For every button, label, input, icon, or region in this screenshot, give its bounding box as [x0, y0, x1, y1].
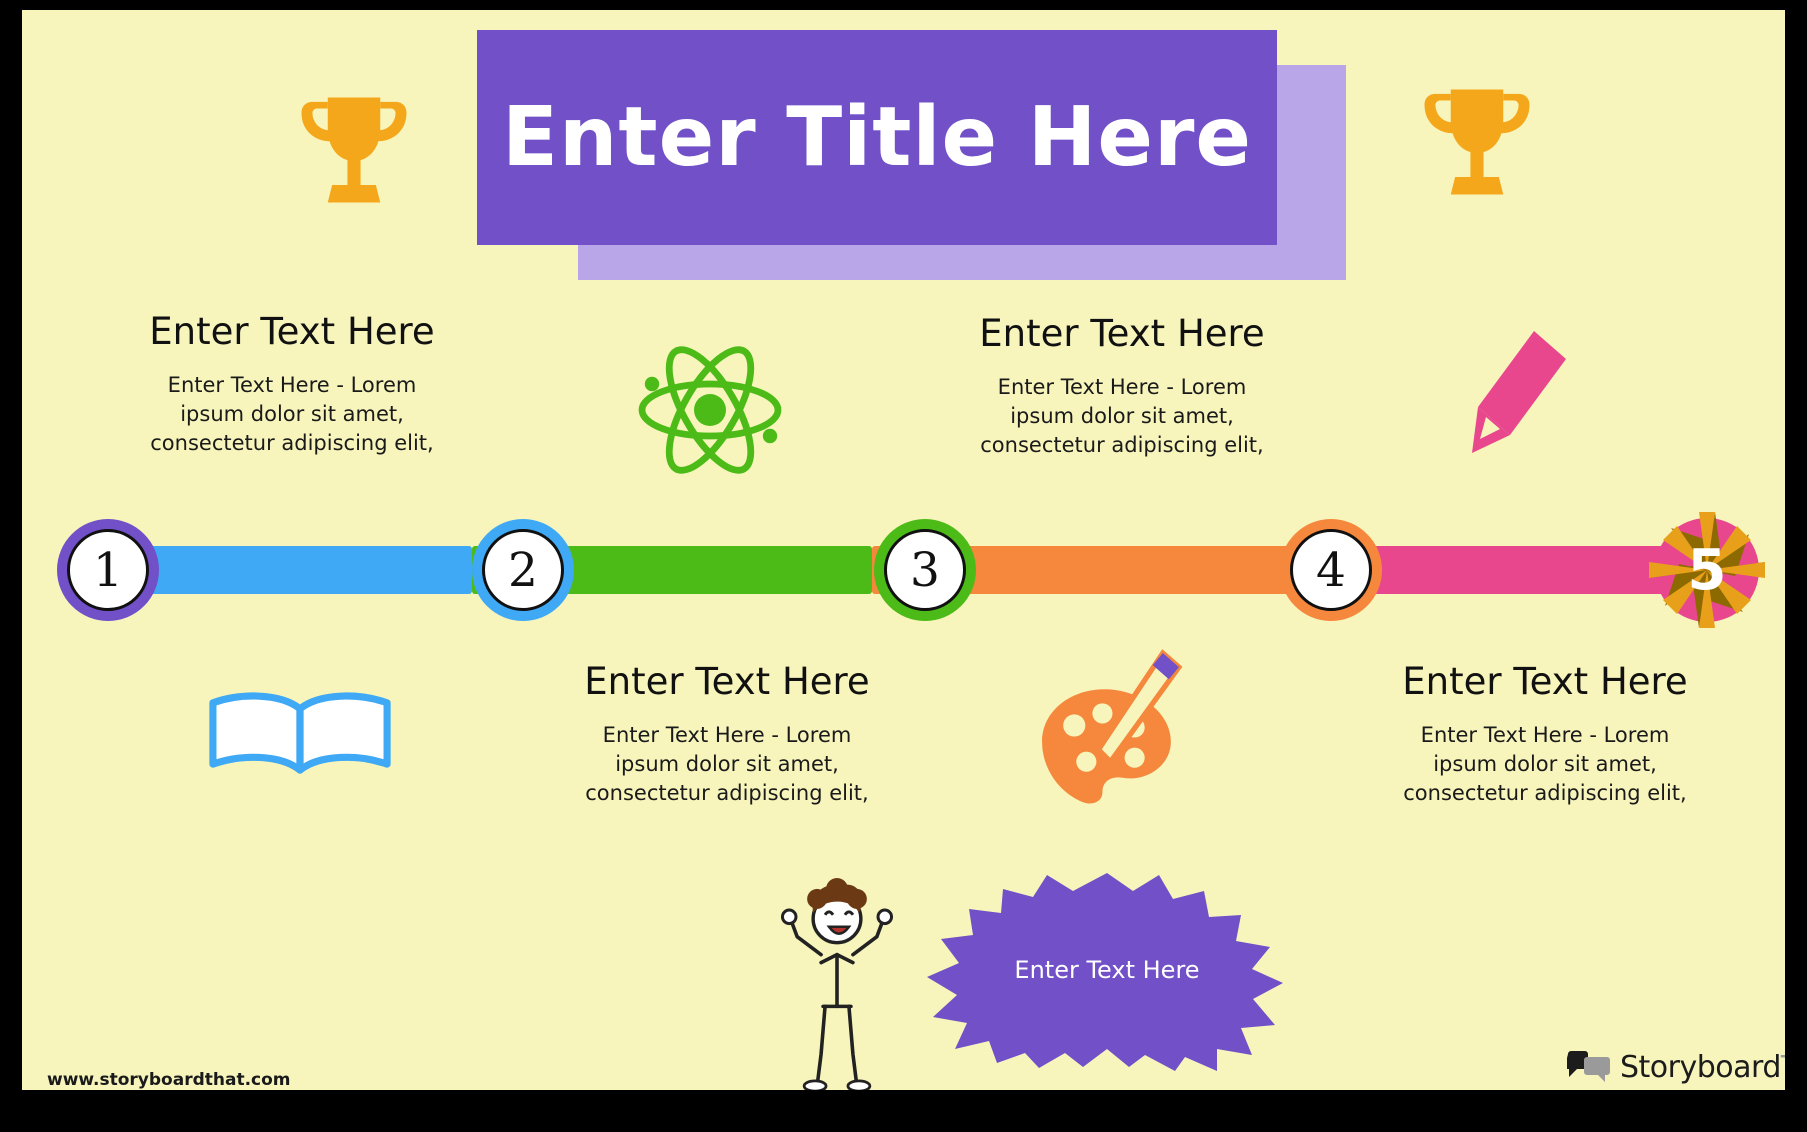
timeline-node-3-number: 3 — [884, 529, 966, 611]
open-book-icon — [200, 685, 400, 784]
footer-url[interactable]: www.storyboardthat.com — [47, 1070, 291, 1090]
timeline-node-4-number: 4 — [1290, 529, 1372, 611]
text-block-3-body: Enter Text Here - Lorem ipsum dolor sit … — [977, 373, 1267, 460]
text-block-3-heading: Enter Text Here — [977, 312, 1267, 355]
callout-badge[interactable]: Enter Text Here — [927, 865, 1287, 1075]
logo-primary: Storyboard — [1620, 1050, 1781, 1085]
timeline-node-3[interactable]: 3 — [874, 519, 976, 621]
trophy-icon-right — [1407, 72, 1547, 216]
text-block-3[interactable]: Enter Text Here Enter Text Here - Lorem … — [977, 312, 1267, 460]
paint-palette-icon — [1030, 645, 1195, 814]
timeline-node-1-number: 1 — [67, 529, 149, 611]
storyboardthat-logo[interactable]: StoryboardThat — [1567, 1050, 1785, 1085]
timeline-node-5-number: 5 — [1637, 500, 1777, 640]
cheering-character — [777, 875, 897, 1090]
text-block-4-heading: Enter Text Here — [1400, 660, 1690, 703]
text-block-2[interactable]: Enter Text Here Enter Text Here - Lorem … — [582, 660, 872, 808]
title-banner[interactable]: Enter Title Here — [477, 30, 1277, 245]
trophy-icon-left — [284, 80, 424, 224]
text-block-1[interactable]: Enter Text Here Enter Text Here - Lorem … — [147, 310, 437, 458]
timeline-node-5[interactable]: 5 — [1637, 500, 1777, 640]
timeline: 1 2 3 4 — [22, 510, 1785, 630]
text-block-2-body: Enter Text Here - Lorem ipsum dolor sit … — [582, 721, 872, 808]
timeline-node-2-number: 2 — [482, 529, 564, 611]
text-block-1-body: Enter Text Here - Lorem ipsum dolor sit … — [147, 371, 437, 458]
text-block-4[interactable]: Enter Text Here Enter Text Here - Lorem … — [1400, 660, 1690, 808]
timeline-node-4[interactable]: 4 — [1280, 519, 1382, 621]
timeline-segment-1-2 — [122, 546, 472, 594]
page-title: Enter Title Here — [502, 90, 1252, 185]
text-block-2-heading: Enter Text Here — [582, 660, 872, 703]
timeline-node-1[interactable]: 1 — [57, 519, 159, 621]
callout-text: Enter Text Here — [927, 865, 1287, 1075]
timeline-node-2[interactable]: 2 — [472, 519, 574, 621]
speech-bubbles-icon — [1567, 1051, 1611, 1085]
logo-wordmark: StoryboardThat — [1620, 1050, 1785, 1085]
pencil-icon — [1462, 325, 1572, 489]
text-block-1-heading: Enter Text Here — [147, 310, 437, 353]
logo-secondary: That — [1781, 1050, 1785, 1085]
text-block-4-body: Enter Text Here - Lorem ipsum dolor sit … — [1400, 721, 1690, 808]
poster-canvas: Enter Title Here — [22, 10, 1785, 1090]
atom-icon — [630, 340, 790, 484]
